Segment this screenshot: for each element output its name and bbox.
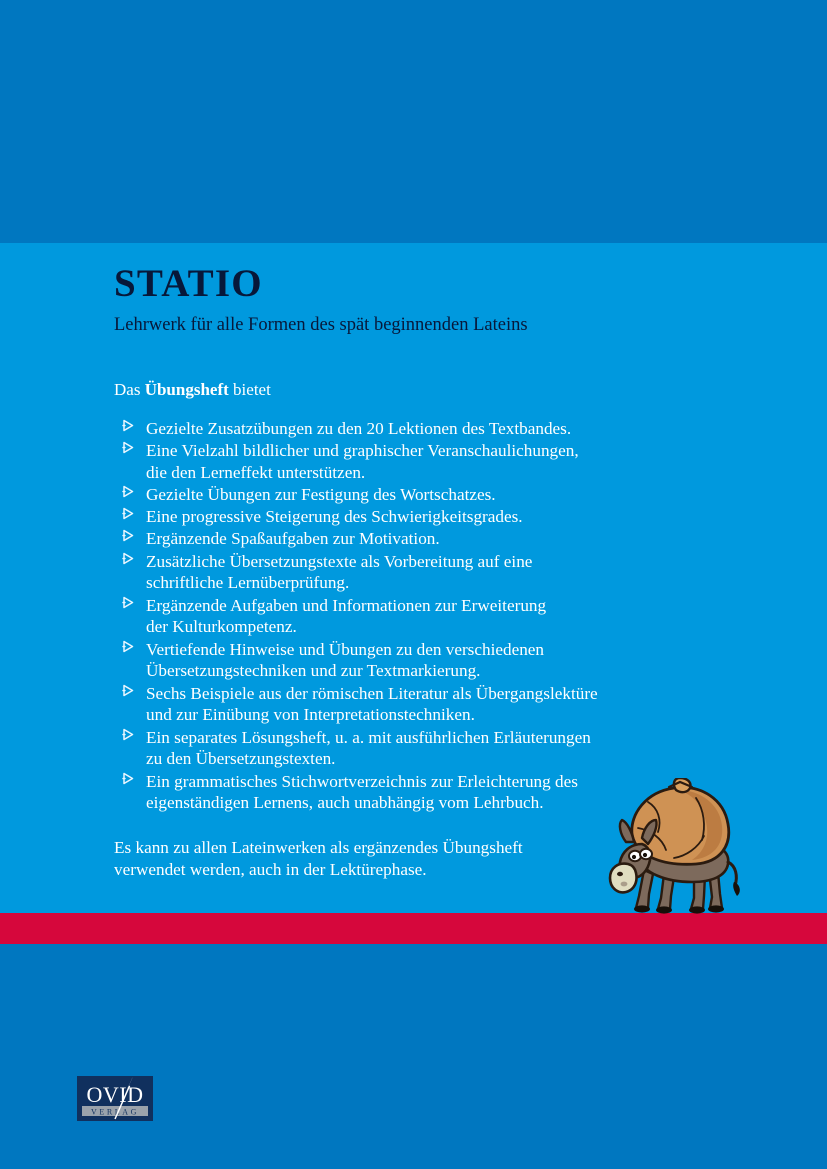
feature-text-line: Übersetzungstechniken und zur Textmarkie… (146, 660, 734, 682)
feature-text: Vertiefende Hinweise und Übungen zu den … (146, 639, 734, 683)
feature-text: Sechs Beispiele aus der römischen Litera… (146, 683, 734, 727)
arrow-bullet-icon (122, 507, 135, 520)
arrow-bullet-icon (122, 529, 135, 542)
arrow-bullet-icon (122, 485, 135, 498)
feature-list: Gezielte Zusatzübungen zu den 20 Lektion… (114, 418, 734, 815)
feature-text: Eine Vielzahl bildlicher und graphischer… (146, 440, 734, 484)
feature-text: Zusätzliche Übersetzungstexte als Vorber… (146, 551, 734, 595)
feature-item: Zusätzliche Übersetzungstexte als Vorber… (114, 551, 734, 595)
arrow-bullet-icon (122, 441, 135, 454)
feature-text: Ergänzende Aufgaben und Informationen zu… (146, 595, 734, 639)
feature-text-line: Ergänzende Spaßaufgaben zur Motivation. (146, 528, 734, 550)
feature-text-line: Ergänzende Aufgaben und Informationen zu… (146, 595, 734, 617)
feature-text: Eine progressive Steigerung des Schwieri… (146, 506, 734, 528)
arrow-bullet-icon (122, 419, 135, 432)
intro-prefix: Das (114, 380, 145, 399)
feature-text-line: Sechs Beispiele aus der römischen Litera… (146, 683, 734, 705)
feature-item: Sechs Beispiele aus der römischen Litera… (114, 683, 734, 727)
feature-text-line: zu den Übersetzungstexten. (146, 748, 734, 770)
feature-text-line: und zur Einübung von Interpretationstech… (146, 704, 734, 726)
feature-item: Gezielte Zusatzübungen zu den 20 Lektion… (114, 418, 734, 440)
feature-text-line: Gezielte Zusatzübungen zu den 20 Lektion… (146, 418, 734, 440)
top-color-band (0, 0, 827, 243)
intro-line: Das Übungsheft bietet (114, 380, 734, 400)
intro-emphasis: Übungsheft (145, 380, 229, 399)
bottom-color-band (0, 944, 827, 1169)
arrow-bullet-icon (122, 684, 135, 697)
feature-text-line: Zusätzliche Übersetzungstexte als Vorber… (146, 551, 734, 573)
feature-text-line: die den Lerneffekt unterstützen. (146, 462, 734, 484)
publisher-logo: OVID VERLAG (77, 1076, 153, 1121)
feature-text-line: Gezielte Übungen zur Festigung des Worts… (146, 484, 734, 506)
arrow-bullet-icon (122, 640, 135, 653)
feature-item: Ergänzende Aufgaben und Informationen zu… (114, 595, 734, 639)
intro-suffix: bietet (229, 380, 271, 399)
feature-item: Eine progressive Steigerung des Schwieri… (114, 506, 734, 528)
page-subtitle: Lehrwerk für alle Formen des spät beginn… (114, 314, 734, 336)
book-back-cover: STATIO Lehrwerk für alle Formen des spät… (0, 0, 827, 1169)
feature-item: Ergänzende Spaßaufgaben zur Motivation. (114, 528, 734, 550)
feature-text-line: Eine progressive Steigerung des Schwieri… (146, 506, 734, 528)
arrow-bullet-icon (122, 728, 135, 741)
feature-text-line: Vertiefende Hinweise und Übungen zu den … (146, 639, 734, 661)
page-title: STATIO (114, 264, 734, 303)
feature-text-line: schriftliche Lernüberprüfung. (146, 572, 734, 594)
arrow-bullet-icon (122, 596, 135, 609)
feature-item: Ein separates Lösungsheft, u. a. mit aus… (114, 727, 734, 771)
feature-text-line: Ein separates Lösungsheft, u. a. mit aus… (146, 727, 734, 749)
publisher-tagline: VERLAG (91, 1108, 139, 1117)
feature-text: Ergänzende Spaßaufgaben zur Motivation. (146, 528, 734, 550)
arrow-bullet-icon (122, 772, 135, 785)
feature-text: Gezielte Zusatzübungen zu den 20 Lektion… (146, 418, 734, 440)
feature-text-line: der Kulturkompetenz. (146, 616, 734, 638)
feature-text: Ein separates Lösungsheft, u. a. mit aus… (146, 727, 734, 771)
publisher-name: OVID (87, 1082, 144, 1107)
arrow-bullet-icon (122, 552, 135, 565)
feature-item: Vertiefende Hinweise und Übungen zu den … (114, 639, 734, 683)
feature-text: Gezielte Übungen zur Festigung des Worts… (146, 484, 734, 506)
feature-item: Eine Vielzahl bildlicher und graphischer… (114, 440, 734, 484)
donkey-with-sack-illustration (608, 778, 750, 918)
feature-text-line: Eine Vielzahl bildlicher und graphischer… (146, 440, 734, 462)
feature-item: Gezielte Übungen zur Festigung des Worts… (114, 484, 734, 506)
